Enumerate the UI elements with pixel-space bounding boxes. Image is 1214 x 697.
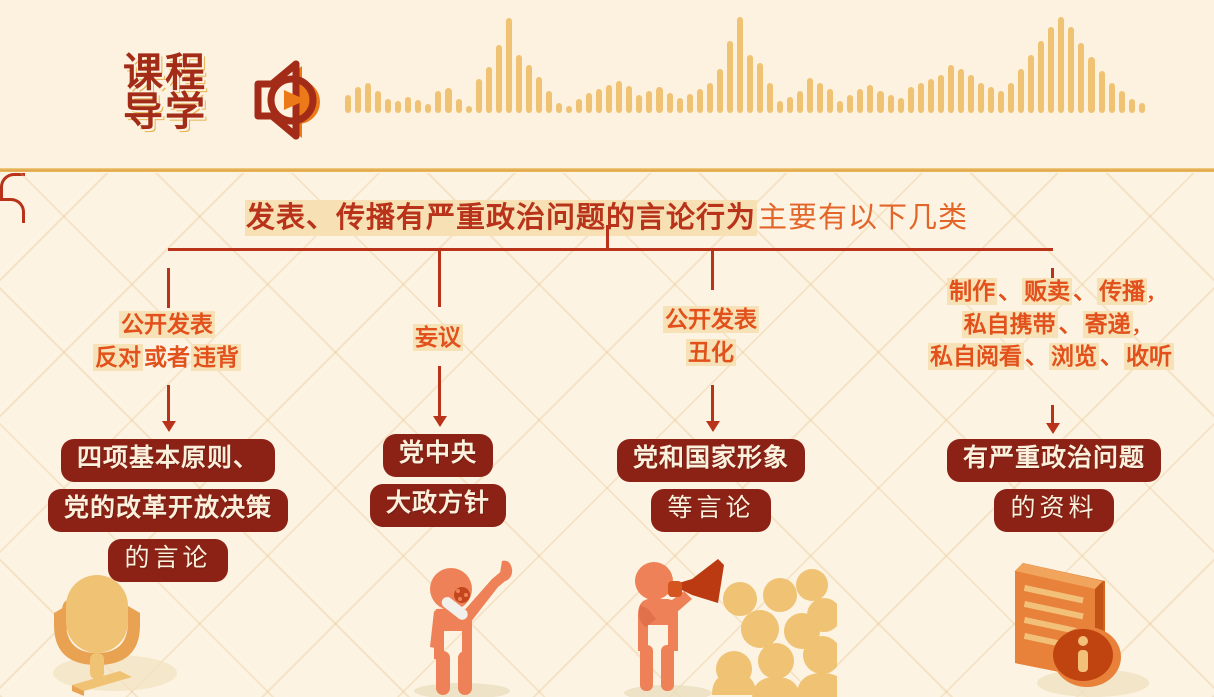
branch-3-label: 公开发表丑化 xyxy=(601,304,821,369)
waveform-bar xyxy=(626,86,632,113)
result-pill: 党和国家形象 xyxy=(617,439,805,482)
label-plain-segment: , xyxy=(1133,311,1141,338)
waveform-bar xyxy=(1088,57,1094,113)
waveform-bar xyxy=(948,65,954,113)
waveform-bar xyxy=(777,101,783,113)
label-highlight-segment: 制作 xyxy=(947,278,997,305)
waveform-bar xyxy=(656,87,662,113)
waveform-bar xyxy=(928,79,934,113)
label-highlight-segment: 传播 xyxy=(1097,278,1147,305)
branch-4-pills: 有严重政治问题的资料 xyxy=(906,439,1202,532)
result-pill: 大政方针 xyxy=(370,484,506,527)
arrow-line-3 xyxy=(711,385,714,423)
waveform-bar xyxy=(817,83,823,113)
waveform-bar xyxy=(988,87,994,113)
waveform-bar xyxy=(516,55,522,113)
branch-label-line: 制作、贩卖、传播, xyxy=(886,276,1214,309)
waveform-bar xyxy=(807,78,813,113)
waveform-bar xyxy=(847,95,853,113)
waveform-bar xyxy=(958,69,964,113)
result-pill: 四项基本原则、 xyxy=(61,439,275,482)
result-pill: 党中央 xyxy=(383,434,493,477)
waveform-bar xyxy=(536,77,542,113)
label-highlight-segment: 私自携带 xyxy=(962,311,1058,338)
label-plain-segment: 、 xyxy=(997,278,1022,305)
connector-stub xyxy=(606,225,609,249)
connector-drop-2 xyxy=(438,250,441,307)
waveform-bar xyxy=(616,81,622,113)
waveform-bar xyxy=(556,103,562,113)
waveform-bar xyxy=(566,106,572,113)
waveform-bar xyxy=(797,91,803,113)
label-highlight-segment: 妄议 xyxy=(413,324,463,351)
waveform-bar xyxy=(606,85,612,113)
waveform-bar xyxy=(445,88,451,113)
branch-3-pills: 党和国家形象等言论 xyxy=(591,439,831,532)
waveform-bar xyxy=(757,63,763,113)
label-highlight-segment: 公开发表 xyxy=(663,306,759,333)
waveform-bar xyxy=(365,83,371,113)
waveform-bar xyxy=(395,101,401,113)
waveform-bar xyxy=(898,98,904,113)
label-plain-segment: 、 xyxy=(1024,343,1049,370)
waveform-bar xyxy=(1078,43,1084,113)
waveform-bar xyxy=(938,75,944,113)
waveform-bar xyxy=(405,97,411,113)
waveform-bar xyxy=(787,97,793,113)
arrow-head-1 xyxy=(162,421,176,432)
waveform-bar xyxy=(476,79,482,113)
result-pill: 等言论 xyxy=(651,489,770,532)
waveform-bar xyxy=(737,17,743,113)
waveform-bar xyxy=(496,45,502,113)
page-title-plain: 主要有以下几类 xyxy=(757,200,969,236)
waveform-bar xyxy=(727,41,733,113)
waveform-bar xyxy=(918,83,924,113)
waveform-bar xyxy=(707,83,713,113)
waveform-bar xyxy=(1109,83,1115,113)
waveform-bar xyxy=(1058,17,1064,113)
waveform-bar xyxy=(596,89,602,113)
waveform-bar xyxy=(345,95,351,113)
waveform-bar xyxy=(415,100,421,113)
waveform-bar xyxy=(978,83,984,113)
connector-drop-1 xyxy=(167,268,170,308)
branch-2-pills: 党中央大政方针 xyxy=(348,434,528,527)
arrow-head-4 xyxy=(1046,423,1060,434)
waveform-bar xyxy=(667,93,673,113)
header-divider xyxy=(0,168,1214,172)
waveform-bar xyxy=(1068,27,1074,113)
label-highlight-segment: 收听 xyxy=(1124,343,1174,370)
branch-label-line: 私自携带、寄递, xyxy=(886,309,1214,342)
arrow-line-1 xyxy=(167,385,170,423)
label-highlight-segment: 丑化 xyxy=(686,339,736,366)
diagram-body: 发表、传播有严重政治问题的言论行为主要有以下几类 公开发表反对或者违背 四项基本… xyxy=(0,173,1214,697)
waveform-bar xyxy=(687,94,693,113)
waveform-bar xyxy=(1099,71,1105,113)
waveform-bar xyxy=(747,55,753,113)
waveform-bar xyxy=(1048,27,1054,113)
waveform-bar xyxy=(767,83,773,113)
connector-drop-3 xyxy=(711,250,714,290)
result-pill: 的资料 xyxy=(994,489,1113,532)
waveform-bar xyxy=(506,18,512,113)
branch-label-line: 公开发表 xyxy=(601,304,821,337)
arrow-line-2 xyxy=(438,366,441,418)
branch-label-line: 公开发表 xyxy=(47,309,287,342)
label-plain-segment: 或者 xyxy=(143,344,191,371)
label-highlight-segment: 寄递 xyxy=(1083,311,1133,338)
brand-title-line2: 导学 xyxy=(123,92,207,131)
result-pill: 有严重政治问题 xyxy=(947,439,1161,482)
waveform-bar xyxy=(677,98,683,113)
label-highlight-segment: 公开发表 xyxy=(119,311,215,338)
waveform-bar xyxy=(697,89,703,113)
brand-title: 课程 导学 xyxy=(110,46,220,138)
arrow-head-2 xyxy=(433,416,447,427)
waveform-bar xyxy=(998,91,1004,113)
label-plain-segment: 、 xyxy=(1058,311,1083,338)
label-highlight-segment: 私自阅看 xyxy=(928,343,1024,370)
waveform-bar xyxy=(486,67,492,113)
waveform-bar xyxy=(466,106,472,113)
branch-label-line: 妄议 xyxy=(348,322,528,355)
page-title-highlight: 发表、传播有严重政治问题的言论行为 xyxy=(245,200,757,236)
label-highlight-segment: 浏览 xyxy=(1049,343,1099,370)
result-pill: 党的改革开放决策 xyxy=(48,489,288,532)
waveform-bar xyxy=(646,91,652,113)
waveform-bar xyxy=(888,95,894,113)
waveform-bar xyxy=(456,99,462,113)
waveform-bar xyxy=(385,99,391,113)
waveform-bar xyxy=(526,65,532,113)
waveform-bar xyxy=(1028,55,1034,113)
waveform-bar xyxy=(908,87,914,113)
waveform-bar xyxy=(1008,83,1014,113)
person-with-megaphone-crowd-icon xyxy=(612,555,837,697)
waveform-bar xyxy=(867,85,873,113)
waveform-bar xyxy=(576,99,582,113)
branch-4-label: 制作、贩卖、传播,私自携带、寄递,私自阅看、浏览、收听 xyxy=(886,276,1214,374)
waveform-bar xyxy=(1119,91,1125,113)
label-plain-segment: 、 xyxy=(1072,278,1097,305)
waveform-bar xyxy=(355,87,361,113)
speaker-play-icon[interactable] xyxy=(240,48,332,148)
person-with-microphone-icon xyxy=(400,551,545,697)
audio-waveform xyxy=(345,18,1145,113)
waveform-bar xyxy=(1129,99,1135,113)
arrow-line-4 xyxy=(1051,405,1054,425)
label-highlight-segment: 反对 xyxy=(93,344,143,371)
waveform-bar xyxy=(1139,103,1145,113)
label-plain-segment: 、 xyxy=(1099,343,1124,370)
branch-label-line: 丑化 xyxy=(601,337,821,370)
waveform-bar xyxy=(586,93,592,113)
waveform-bar xyxy=(435,91,441,113)
branch-1-label: 公开发表反对或者违背 xyxy=(47,309,287,374)
waveform-bar xyxy=(1018,69,1024,113)
brand-title-line1: 课程 xyxy=(123,53,207,92)
waveform-bar xyxy=(425,104,431,113)
label-highlight-segment: 违背 xyxy=(191,344,241,371)
branch-2-label: 妄议 xyxy=(348,322,528,355)
waveform-bar xyxy=(636,95,642,113)
branch-label-line: 私自阅看、浏览、收听 xyxy=(886,341,1214,374)
connector-horizontal-bar xyxy=(168,248,1053,251)
microphone-icon xyxy=(20,553,185,697)
infographic-canvas: 课程 导学 发表、传播有严重政治问题的言论行为主要有以下几类 xyxy=(0,0,1214,697)
label-highlight-segment: 贩卖 xyxy=(1022,278,1072,305)
document-info-icon xyxy=(995,551,1160,697)
waveform-bar xyxy=(546,91,552,113)
branch-label-line: 反对或者违背 xyxy=(47,342,287,375)
waveform-bar xyxy=(827,89,833,113)
arrow-head-3 xyxy=(706,421,720,432)
waveform-bar xyxy=(717,69,723,113)
header-bar: 课程 导学 xyxy=(0,0,1214,172)
waveform-bar xyxy=(375,91,381,113)
waveform-bar xyxy=(857,89,863,113)
waveform-bar xyxy=(837,101,843,113)
waveform-bar xyxy=(968,75,974,113)
label-plain-segment: , xyxy=(1147,278,1155,305)
waveform-bar xyxy=(877,91,883,113)
waveform-bar xyxy=(1038,41,1044,113)
